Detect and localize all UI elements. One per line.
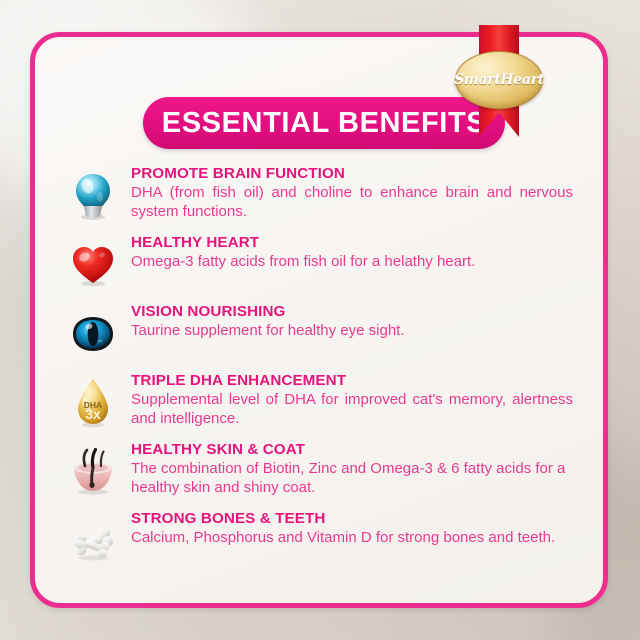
benefit-text-cell: HEALTHY HEART Omega-3 fatty acids from f…	[131, 234, 591, 272]
lightbulb-icon	[72, 171, 114, 221]
list-item: VISION NOURISHING Taurine supplement for…	[55, 303, 591, 363]
list-item: HEALTHY HEART Omega-3 fatty acids from f…	[55, 234, 591, 294]
bone-icon	[67, 518, 119, 564]
smartheart-badge: SmartHeart	[453, 25, 545, 143]
benefit-description: The combination of Biotin, Zinc and Omeg…	[131, 460, 573, 498]
benefit-text-cell: HEALTHY SKIN & COAT The combination of B…	[131, 441, 591, 498]
benefit-description: Supplemental level of DHA for improved c…	[131, 391, 573, 429]
page-title: ESSENTIAL BENEFITS	[162, 107, 486, 140]
heart-icon	[70, 243, 116, 287]
benefit-text-cell: TRIPLE DHA ENHANCEMENT Supplemental leve…	[131, 372, 591, 429]
benefit-description: Omega-3 fatty acids from fish oil for a …	[131, 253, 573, 272]
benefits-card: SmartHeart ESSENTIAL BENEFITS	[30, 32, 608, 608]
benefit-icon-cell	[55, 234, 131, 294]
benefit-icon-cell	[55, 441, 131, 501]
benefit-text-cell: PROMOTE BRAIN FUNCTION DHA (from fish oi…	[131, 165, 591, 222]
poster-background: SmartHeart ESSENTIAL BENEFITS	[0, 0, 640, 640]
page-title-banner: ESSENTIAL BENEFITS	[143, 97, 505, 149]
benefit-description: Taurine supplement for healthy eye sight…	[131, 322, 573, 341]
benefit-icon-cell	[55, 510, 131, 570]
list-item: PROMOTE BRAIN FUNCTION DHA (from fish oi…	[55, 165, 591, 225]
benefit-title: HEALTHY SKIN & COAT	[131, 441, 573, 459]
list-item: HEALTHY SKIN & COAT The combination of B…	[55, 441, 591, 501]
benefit-title: TRIPLE DHA ENHANCEMENT	[131, 372, 573, 390]
cat-eye-icon	[69, 314, 117, 354]
benefit-description: DHA (from fish oil) and choline to enhan…	[131, 184, 573, 222]
benefit-icon-cell	[55, 303, 131, 363]
benefits-list: PROMOTE BRAIN FUNCTION DHA (from fish oi…	[55, 165, 591, 579]
benefit-text-cell: VISION NOURISHING Taurine supplement for…	[131, 303, 591, 341]
benefit-description: Calcium, Phosphorus and Vitamin D for st…	[131, 529, 573, 548]
benefit-title: VISION NOURISHING	[131, 303, 573, 321]
oil-droplet-label-bottom: 3x	[85, 406, 101, 422]
benefit-title: HEALTHY HEART	[131, 234, 573, 252]
benefit-icon-cell	[55, 165, 131, 225]
oil-droplet-icon: DHA 3x	[72, 377, 114, 429]
brand-logo-text: SmartHeart	[454, 72, 544, 88]
benefit-text-cell: STRONG BONES & TEETH Calcium, Phosphorus…	[131, 510, 591, 548]
list-item: STRONG BONES & TEETH Calcium, Phosphorus…	[55, 510, 591, 570]
list-item: DHA 3x TRIPLE DHA ENHANCEMENT Supplement…	[55, 372, 591, 432]
benefit-icon-cell: DHA 3x	[55, 372, 131, 432]
hair-follicle-icon	[68, 448, 118, 496]
benefit-title: PROMOTE BRAIN FUNCTION	[131, 165, 573, 183]
benefit-title: STRONG BONES & TEETH	[131, 510, 573, 528]
medallion-icon: SmartHeart	[455, 51, 543, 109]
